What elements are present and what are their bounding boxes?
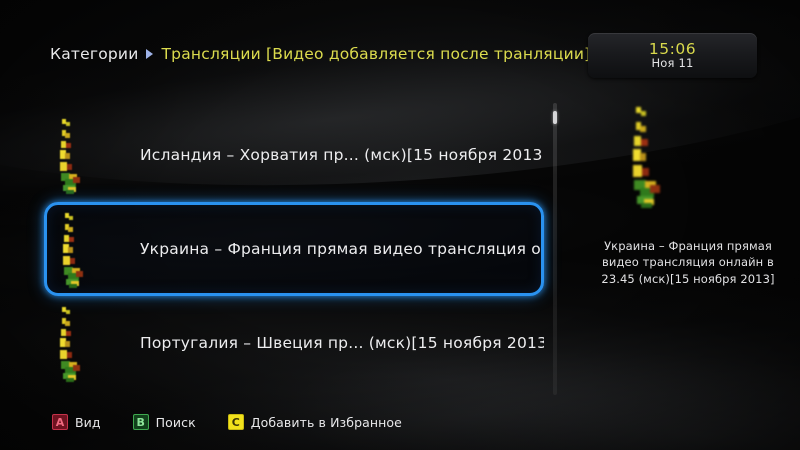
info-panel: Украина – Франция прямая видео трансляци… [580, 100, 796, 320]
list-item-selected[interactable]: Украина – Франция прямая видео трансляци… [44, 202, 544, 296]
button-hint-bar: A Вид B Поиск C Добавить в Избранное [52, 412, 402, 432]
button-b-badge-icon: B [133, 414, 149, 430]
button-a-label: Вид [75, 415, 101, 430]
list-item-label: Исландия – Хорватия пр... (мск)[15 ноябр… [140, 146, 544, 164]
info-description: Украина – Франция прямая видео трансляци… [586, 238, 790, 287]
clock-time: 15:06 [649, 42, 696, 58]
list-item-label: Португалия – Швеция пр... (мск)[15 ноябр… [140, 334, 544, 352]
list-item[interactable]: Исландия – Хорватия пр... (мск)[15 ноябр… [44, 108, 544, 202]
breadcrumb-root[interactable]: Категории [50, 45, 138, 63]
list-item[interactable]: Португалия – Швеция пр... (мск)[15 ноябр… [44, 296, 544, 390]
button-c-badge-icon: C [228, 414, 244, 430]
breadcrumb-current: Трансляции [Видео добавляется после тран… [161, 45, 590, 63]
chevron-right-icon [146, 49, 153, 59]
info-thumbnail-artifact-icon [622, 104, 678, 208]
button-hint-c[interactable]: C Добавить в Избранное [228, 414, 402, 430]
button-b-label: Поиск [156, 415, 196, 430]
button-c-label: Добавить в Избранное [251, 415, 402, 430]
thumbnail-artifact-icon [52, 305, 96, 381]
button-hint-a[interactable]: A Вид [52, 414, 101, 430]
clock-date: Ноя 11 [651, 58, 693, 70]
breadcrumb: Категории Трансляции [Видео добавляется … [50, 42, 590, 66]
button-hint-b[interactable]: B Поиск [133, 414, 196, 430]
thumbnail-artifact-icon [55, 211, 99, 287]
broadcast-list: Исландия – Хорватия пр... (мск)[15 ноябр… [44, 100, 544, 400]
scrollbar[interactable] [553, 103, 557, 395]
app-screen: Категории Трансляции [Видео добавляется … [0, 0, 800, 450]
clock-panel: 15:06 Ноя 11 [588, 33, 757, 78]
button-a-badge-icon: A [52, 414, 68, 430]
scrollbar-thumb[interactable] [553, 111, 557, 124]
thumbnail-artifact-icon [52, 117, 96, 193]
list-item-label: Украина – Франция прямая видео трансляци… [140, 240, 541, 258]
